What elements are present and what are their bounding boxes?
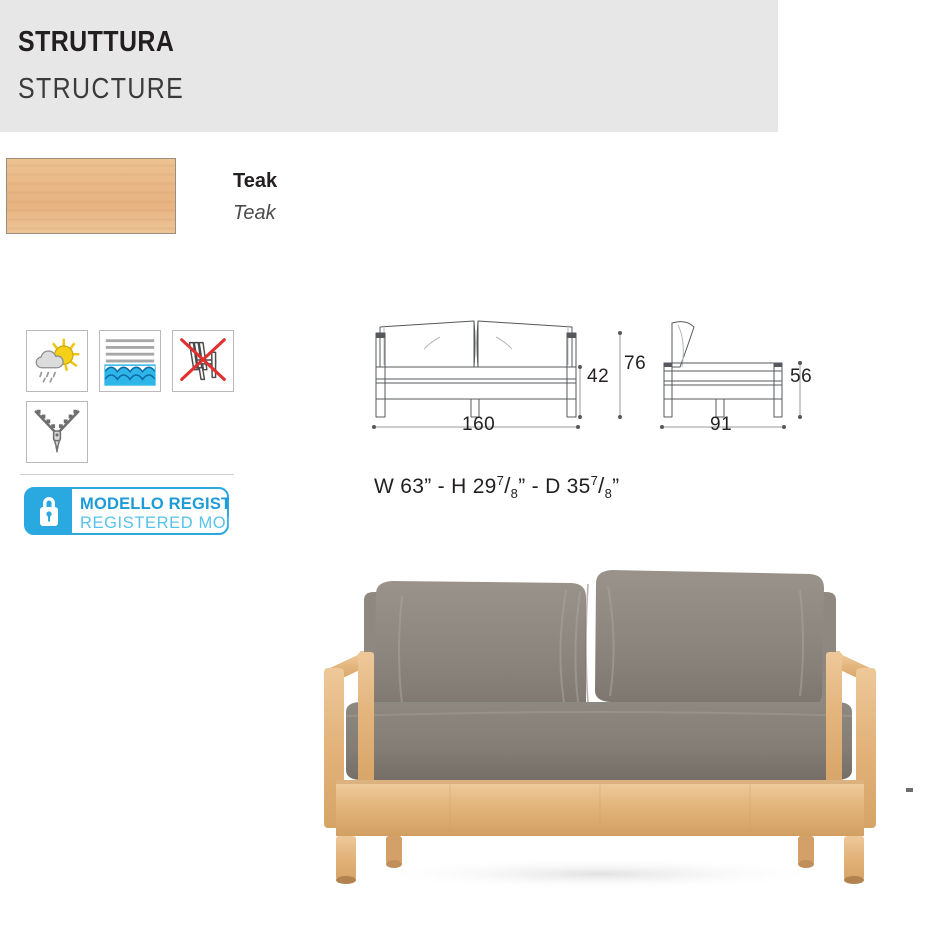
page-title-it: STRUTTURA: [18, 26, 174, 59]
page-artifact-mark: [906, 788, 913, 792]
imperial-separator-1: -: [438, 475, 445, 498]
water-resistant-icon: [99, 330, 161, 392]
imperial-dimensions: W 63” - H 297/8” - D 357/8”: [374, 473, 619, 501]
weather-resistant-icon: [26, 330, 88, 392]
imperial-height-unit: ”: [518, 475, 525, 498]
imperial-width: W 63: [374, 475, 424, 498]
imperial-depth: D 35: [545, 475, 591, 498]
sofa-product-photo: [300, 556, 900, 896]
dimension-seat-height-42: 42: [587, 366, 609, 388]
not-stackable-icon: [172, 330, 234, 392]
dimension-width-160: 160: [462, 414, 495, 436]
dimension-arm-height-56: 56: [790, 366, 812, 388]
imperial-depth-unit: ”: [612, 475, 619, 498]
section-header-band: [0, 0, 778, 132]
page-title-en: STRUCTURE: [18, 73, 184, 106]
registered-model-badge: MODELLO REGISTRATO REGISTERED MODEL: [24, 487, 229, 535]
finish-label-en: Teak: [233, 202, 276, 225]
finish-label-it: Teak: [233, 170, 277, 193]
dimension-total-height-76: 76: [624, 353, 646, 375]
registered-badge-line-en: REGISTERED MODEL: [80, 514, 229, 532]
side-elevation-drawing: [650, 305, 880, 435]
removable-cover-zipper-icon: [26, 401, 88, 463]
teak-wood-swatch: [6, 158, 176, 234]
registered-badge-line-it: MODELLO REGISTRATO: [80, 495, 229, 513]
dimension-depth-91: 91: [710, 414, 732, 436]
imperial-height: H 29: [451, 475, 497, 498]
pictogram-divider: [20, 474, 234, 475]
imperial-separator-2: -: [532, 475, 539, 498]
imperial-width-unit: ”: [424, 475, 431, 498]
